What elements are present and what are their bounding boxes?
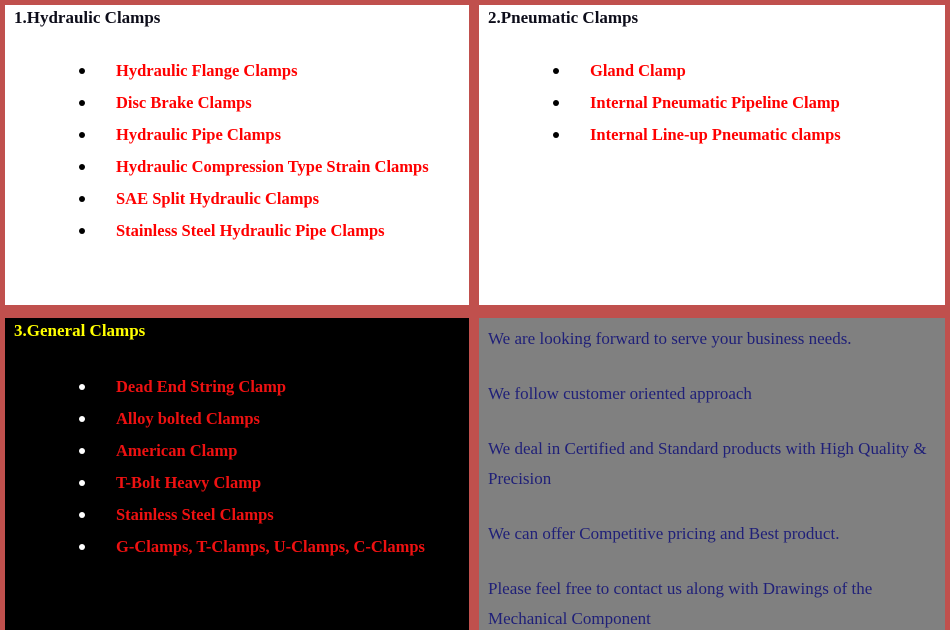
- list-item-label: Hydraulic Pipe Clamps: [116, 125, 281, 144]
- bullet-icon: [79, 132, 85, 138]
- list-item-label: Stainless Steel Clamps: [116, 505, 274, 524]
- bullet-icon: [553, 132, 559, 138]
- bullet-icon: [79, 384, 85, 390]
- list-item[interactable]: Gland Clamp: [479, 55, 945, 87]
- list-item-label: Gland Clamp: [590, 61, 686, 80]
- list-item[interactable]: G-Clamps, T-Clamps, U-Clamps, C-Clamps: [5, 531, 469, 563]
- list-item-label: American Clamp: [116, 441, 237, 460]
- message-paragraph: We deal in Certified and Standard produc…: [488, 434, 933, 494]
- list-item-label: Dead End String Clamp: [116, 377, 286, 396]
- panel-hydraulic-heading: 1.Hydraulic Clamps: [5, 5, 469, 28]
- list-item[interactable]: Stainless Steel Hydraulic Pipe Clamps: [5, 215, 469, 247]
- list-item[interactable]: Dead End String Clamp: [5, 371, 469, 403]
- bullet-icon: [79, 196, 85, 202]
- list-item-label: G-Clamps, T-Clamps, U-Clamps, C-Clamps: [116, 537, 425, 556]
- message-paragraph: We follow customer oriented approach: [488, 379, 933, 409]
- list-item-label: SAE Split Hydraulic Clamps: [116, 189, 319, 208]
- list-item[interactable]: Disc Brake Clamps: [5, 87, 469, 119]
- bullet-icon: [79, 68, 85, 74]
- panel-hydraulic-clamps: 1.Hydraulic Clamps Hydraulic Flange Clam…: [5, 5, 469, 305]
- list-item[interactable]: SAE Split Hydraulic Clamps: [5, 183, 469, 215]
- clamp-catalog-page: 1.Hydraulic Clamps Hydraulic Flange Clam…: [0, 0, 950, 630]
- list-item-label: T-Bolt Heavy Clamp: [116, 473, 261, 492]
- bullet-icon: [79, 448, 85, 454]
- bullet-icon: [553, 100, 559, 106]
- list-item-label: Internal Pneumatic Pipeline Clamp: [590, 93, 840, 112]
- bullet-icon: [79, 480, 85, 486]
- list-item[interactable]: Internal Pneumatic Pipeline Clamp: [479, 87, 945, 119]
- list-item[interactable]: Stainless Steel Clamps: [5, 499, 469, 531]
- message-paragraph: We can offer Competitive pricing and Bes…: [488, 519, 933, 549]
- list-item[interactable]: Internal Line-up Pneumatic clamps: [479, 119, 945, 151]
- pneumatic-clamp-list: Gland Clamp Internal Pneumatic Pipeline …: [479, 28, 945, 151]
- list-item[interactable]: T-Bolt Heavy Clamp: [5, 467, 469, 499]
- panel-pneumatic-clamps: 2.Pneumatic Clamps Gland Clamp Internal …: [479, 5, 945, 305]
- panel-general-clamps: 3.General Clamps Dead End String Clamp A…: [5, 318, 469, 630]
- list-item-label: Disc Brake Clamps: [116, 93, 252, 112]
- bullet-icon: [79, 100, 85, 106]
- list-item-label: Alloy bolted Clamps: [116, 409, 260, 428]
- list-item-label: Hydraulic Compression Type Strain Clamps: [116, 157, 429, 176]
- bullet-icon: [79, 512, 85, 518]
- list-item[interactable]: Hydraulic Pipe Clamps: [5, 119, 469, 151]
- panel-general-heading: 3.General Clamps: [5, 318, 469, 341]
- list-item[interactable]: Hydraulic Compression Type Strain Clamps: [5, 151, 469, 183]
- list-item-label: Internal Line-up Pneumatic clamps: [590, 125, 841, 144]
- message-body: We are looking forward to serve your bus…: [479, 318, 945, 630]
- bullet-icon: [553, 68, 559, 74]
- bullet-icon: [79, 228, 85, 234]
- list-item-label: Stainless Steel Hydraulic Pipe Clamps: [116, 221, 385, 240]
- general-clamp-list: Dead End String Clamp Alloy bolted Clamp…: [5, 341, 469, 563]
- list-item[interactable]: Alloy bolted Clamps: [5, 403, 469, 435]
- list-item-label: Hydraulic Flange Clamps: [116, 61, 298, 80]
- bullet-icon: [79, 544, 85, 550]
- bullet-icon: [79, 164, 85, 170]
- panel-business-message: We are looking forward to serve your bus…: [479, 318, 945, 630]
- hydraulic-clamp-list: Hydraulic Flange Clamps Disc Brake Clamp…: [5, 28, 469, 247]
- panel-pneumatic-heading: 2.Pneumatic Clamps: [479, 5, 945, 28]
- message-paragraph: Please feel free to contact us along wit…: [488, 574, 933, 630]
- list-item[interactable]: Hydraulic Flange Clamps: [5, 55, 469, 87]
- list-item[interactable]: American Clamp: [5, 435, 469, 467]
- message-paragraph: We are looking forward to serve your bus…: [488, 324, 933, 354]
- bullet-icon: [79, 416, 85, 422]
